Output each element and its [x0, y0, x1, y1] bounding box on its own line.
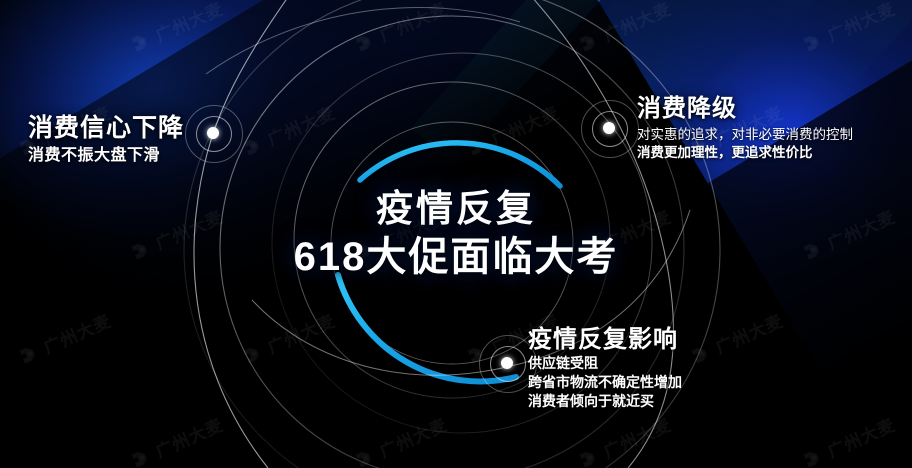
- callout-line-1: 消费不振大盘下滑: [28, 145, 184, 166]
- orbital-rings-graphic: [0, 0, 912, 468]
- callout-consumer-confidence: 消费信心下降 消费不振大盘下滑: [28, 113, 184, 166]
- callout-pandemic-impact: 疫情反复影响 供应链受阻 跨省市物流不确定性增加 消费者倾向于就近买: [528, 325, 682, 411]
- callout-title: 疫情反复影响: [528, 325, 682, 354]
- node-dot: [501, 357, 513, 369]
- connector-curve-left: [194, 0, 300, 468]
- slide-canvas: 广州大麦广州大麦广州大麦广州大麦广州大麦广州大麦广州大麦广州大麦广州大麦广州大麦…: [0, 0, 912, 468]
- callout-line-1: 对实惠的追求，对非必要消费的控制: [637, 126, 853, 144]
- node-dot: [603, 122, 615, 134]
- callout-title: 消费信心下降: [28, 113, 184, 143]
- node-dot: [207, 127, 219, 139]
- callout-line-2: 跨省市物流不确定性增加: [528, 373, 682, 392]
- callout-line-3: 消费者倾向于就近买: [528, 392, 682, 411]
- callout-line-1: 供应链受阻: [528, 354, 682, 373]
- callout-title: 消费降级: [637, 94, 853, 123]
- accent-arc-top: [360, 143, 560, 186]
- callout-consumption-downgrade: 消费降级 对实惠的追求，对非必要消费的控制 消费更加理性，更追求性价比: [637, 94, 853, 162]
- callout-line-2: 消费更加理性，更追求性价比: [637, 144, 853, 162]
